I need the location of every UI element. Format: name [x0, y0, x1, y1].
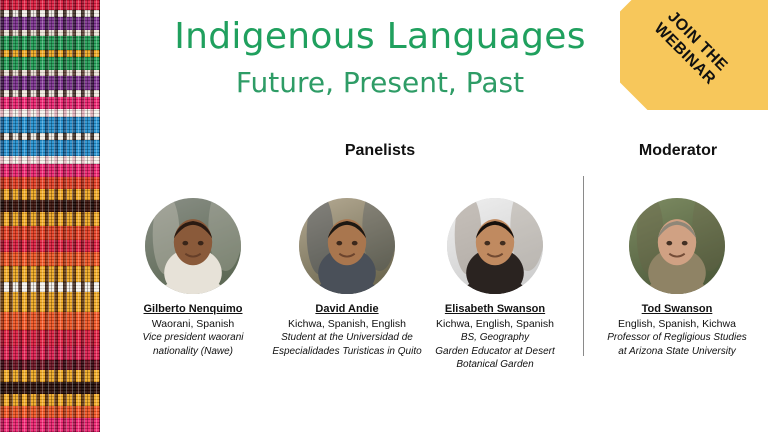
ribbon-line-1: JOIN THE [663, 8, 730, 75]
textile-band [0, 282, 100, 292]
textile-band [0, 370, 100, 382]
person-role-line: Garden Educator at Desert [420, 345, 570, 359]
person-role-line: Botanical Garden [420, 358, 570, 372]
textile-band [0, 164, 100, 177]
textile-band [0, 117, 100, 133]
person-languages: Waorani, Spanish [118, 317, 268, 331]
textile-band [0, 36, 100, 50]
textile-band [0, 330, 100, 346]
textile-band [0, 406, 100, 418]
person-role-line: at Arizona State University [602, 345, 752, 359]
textile-band [0, 76, 100, 90]
panelist-card: Gilberto NenquimoWaorani, SpanishVice pr… [118, 198, 268, 358]
panelist-card: David AndieKichwa, Spanish, EnglishStude… [272, 198, 422, 358]
textile-band [0, 10, 100, 17]
textile-band [0, 17, 100, 30]
textile-band [0, 133, 100, 140]
section-divider [583, 176, 584, 356]
textile-band [0, 266, 100, 282]
person-name: Tod Swanson [602, 302, 752, 317]
portrait-tod-swanson [629, 198, 725, 294]
textile-band [0, 200, 100, 212]
webinar-announcement-slide: JOIN THE WEBINAR Indigenous Languages Fu… [0, 0, 768, 432]
textile-band [0, 97, 100, 109]
textile-band [0, 177, 100, 189]
page-title: Indigenous Languages [100, 16, 660, 57]
textile-band [0, 394, 100, 406]
person-name: Elisabeth Swanson [420, 302, 570, 317]
textile-band [0, 360, 100, 370]
textile-band [0, 346, 100, 360]
person-role-line: BS, Geography [420, 331, 570, 345]
person-role-line: Student at the Universidad de [272, 331, 422, 345]
panelists-heading: Panelists [230, 142, 530, 160]
panelist-card: Elisabeth SwansonKichwa, English, Spanis… [420, 198, 570, 372]
person-role-line: Professor of Regligious Studies [602, 331, 752, 345]
textile-band [0, 0, 100, 10]
portrait-david-andie [299, 198, 395, 294]
person-role-line: nationality (Nawe) [118, 345, 268, 359]
portrait-gilberto-nenquimo [145, 198, 241, 294]
person-role-line: Especialidades Turisticas in Quito [272, 345, 422, 359]
person-languages: Kichwa, Spanish, English [272, 317, 422, 331]
portrait-elisabeth-swanson [447, 198, 543, 294]
person-name: David Andie [272, 302, 422, 317]
textile-border-decoration [0, 0, 100, 432]
textile-band [0, 252, 100, 266]
person-languages: English, Spanish, Kichwa [602, 317, 752, 331]
textile-band [0, 140, 100, 156]
textile-band [0, 240, 100, 252]
textile-band [0, 382, 100, 394]
textile-band [0, 109, 100, 117]
person-role-line: Vice president waorani [118, 331, 268, 345]
moderator-card: Tod SwansonEnglish, Spanish, KichwaProfe… [602, 198, 752, 358]
textile-band [0, 90, 100, 97]
textile-band [0, 312, 100, 330]
textile-band [0, 212, 100, 226]
textile-band [0, 418, 100, 432]
textile-band [0, 57, 100, 70]
person-languages: Kichwa, English, Spanish [420, 317, 570, 331]
textile-band [0, 156, 100, 164]
ribbon-line-2: WEBINAR [650, 20, 719, 89]
moderator-heading: Moderator [588, 142, 768, 160]
textile-band [0, 292, 100, 312]
textile-band [0, 189, 100, 200]
person-name: Gilberto Nenquimo [118, 302, 268, 317]
page-subtitle: Future, Present, Past [100, 66, 660, 99]
textile-band [0, 226, 100, 240]
textile-band [0, 50, 100, 57]
